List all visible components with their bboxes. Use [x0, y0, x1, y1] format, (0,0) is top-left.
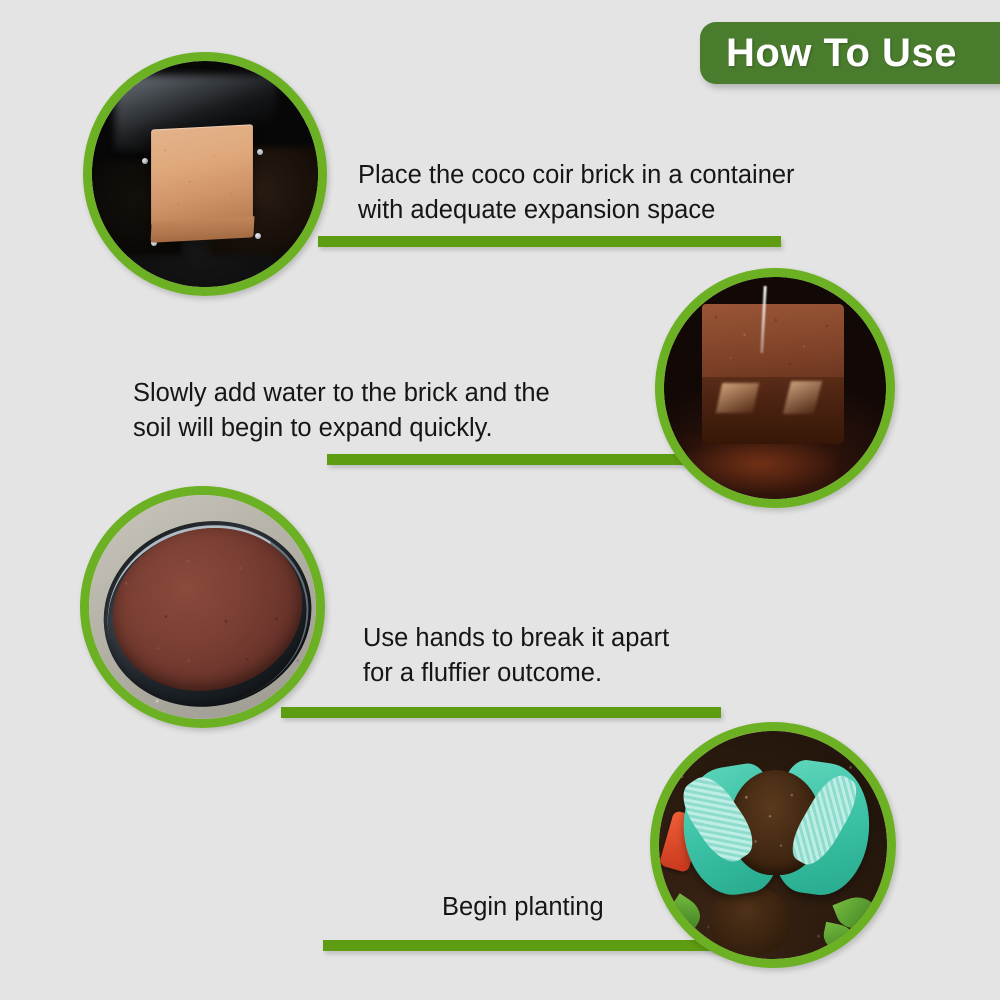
step-3-photo: [89, 495, 316, 719]
black-container-scene: [92, 61, 318, 287]
dry-coco-coir-brick: [151, 124, 253, 227]
watering-brick-scene: [664, 277, 886, 499]
step-1-photo: [92, 61, 318, 287]
brick-expanded-top: [702, 304, 844, 377]
expanding-brick: [702, 304, 844, 442]
step-3-photo-circle: [80, 486, 325, 728]
step-3-connector-bar: [281, 707, 721, 718]
step-1-connector-bar: [318, 236, 781, 247]
step-4-photo-circle: [650, 722, 896, 968]
fluffy-soil-scene: [89, 495, 316, 719]
step-2-photo: [664, 277, 886, 499]
step-1-text: Place the coco coir brick in a container…: [358, 158, 795, 228]
how-to-use-infographic: How To Use Place the coco coir brick in …: [0, 0, 1000, 1000]
page-title: How To Use: [726, 31, 957, 76]
step-2-photo-circle: [655, 268, 895, 508]
step-2-text: Slowly add water to the brick and the so…: [133, 376, 550, 446]
step-1-photo-circle: [83, 52, 327, 296]
root-ball: [709, 886, 791, 954]
step-4-photo: [659, 731, 887, 959]
tray-screw: [255, 233, 261, 239]
step-4-text: Begin planting: [442, 890, 604, 925]
step-3-text: Use hands to break it apart for a fluffi…: [363, 621, 669, 691]
brick-highlight: [716, 383, 759, 413]
header-banner: How To Use: [700, 22, 1000, 84]
brick-texture: [151, 124, 253, 227]
planting-scene: [659, 731, 887, 959]
tray-screw: [142, 158, 148, 164]
